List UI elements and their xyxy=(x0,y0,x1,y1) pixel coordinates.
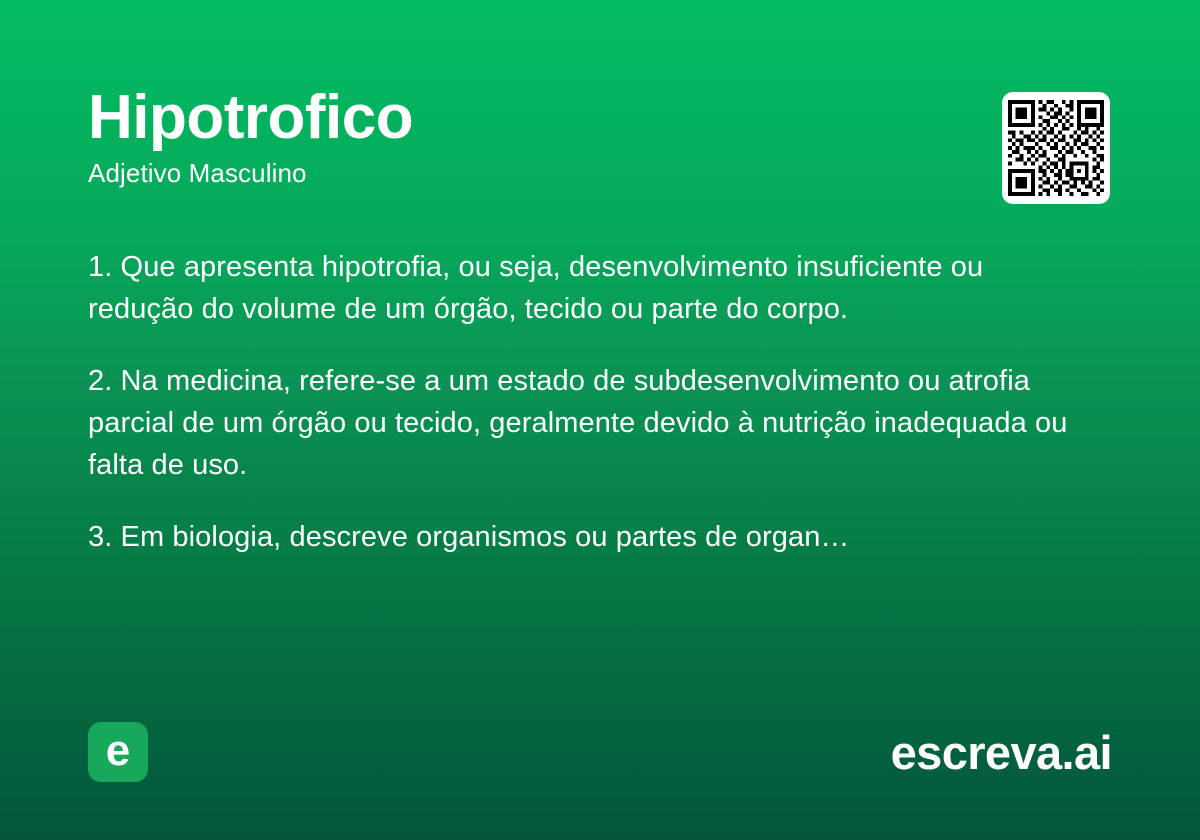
card-footer: e escreva.ai xyxy=(88,722,1112,782)
page-title: Hipotrofico xyxy=(88,86,1112,149)
definition-item: 3. Em biologia, descreve organismos ou p… xyxy=(88,516,1088,558)
card-header: Hipotrofico Adjetivo Masculino xyxy=(88,86,1112,188)
qr-code-card[interactable] xyxy=(1002,92,1110,204)
definition-list: 1. Que apresenta hipotrofia, ou seja, de… xyxy=(88,246,1088,558)
definition-item: 1. Que apresenta hipotrofia, ou seja, de… xyxy=(88,246,1088,330)
brand-logo-icon: e xyxy=(88,722,148,782)
definition-item: 2. Na medicina, refere-se a um estado de… xyxy=(88,360,1088,486)
brand-logo-letter: e xyxy=(106,729,130,773)
brand-wordmark: escreva.ai xyxy=(891,729,1112,776)
qr-code-icon xyxy=(1008,100,1104,196)
word-class-label: Adjetivo Masculino xyxy=(88,159,1112,188)
word-definition-card: Hipotrofico Adjetivo Masculino xyxy=(0,0,1200,840)
